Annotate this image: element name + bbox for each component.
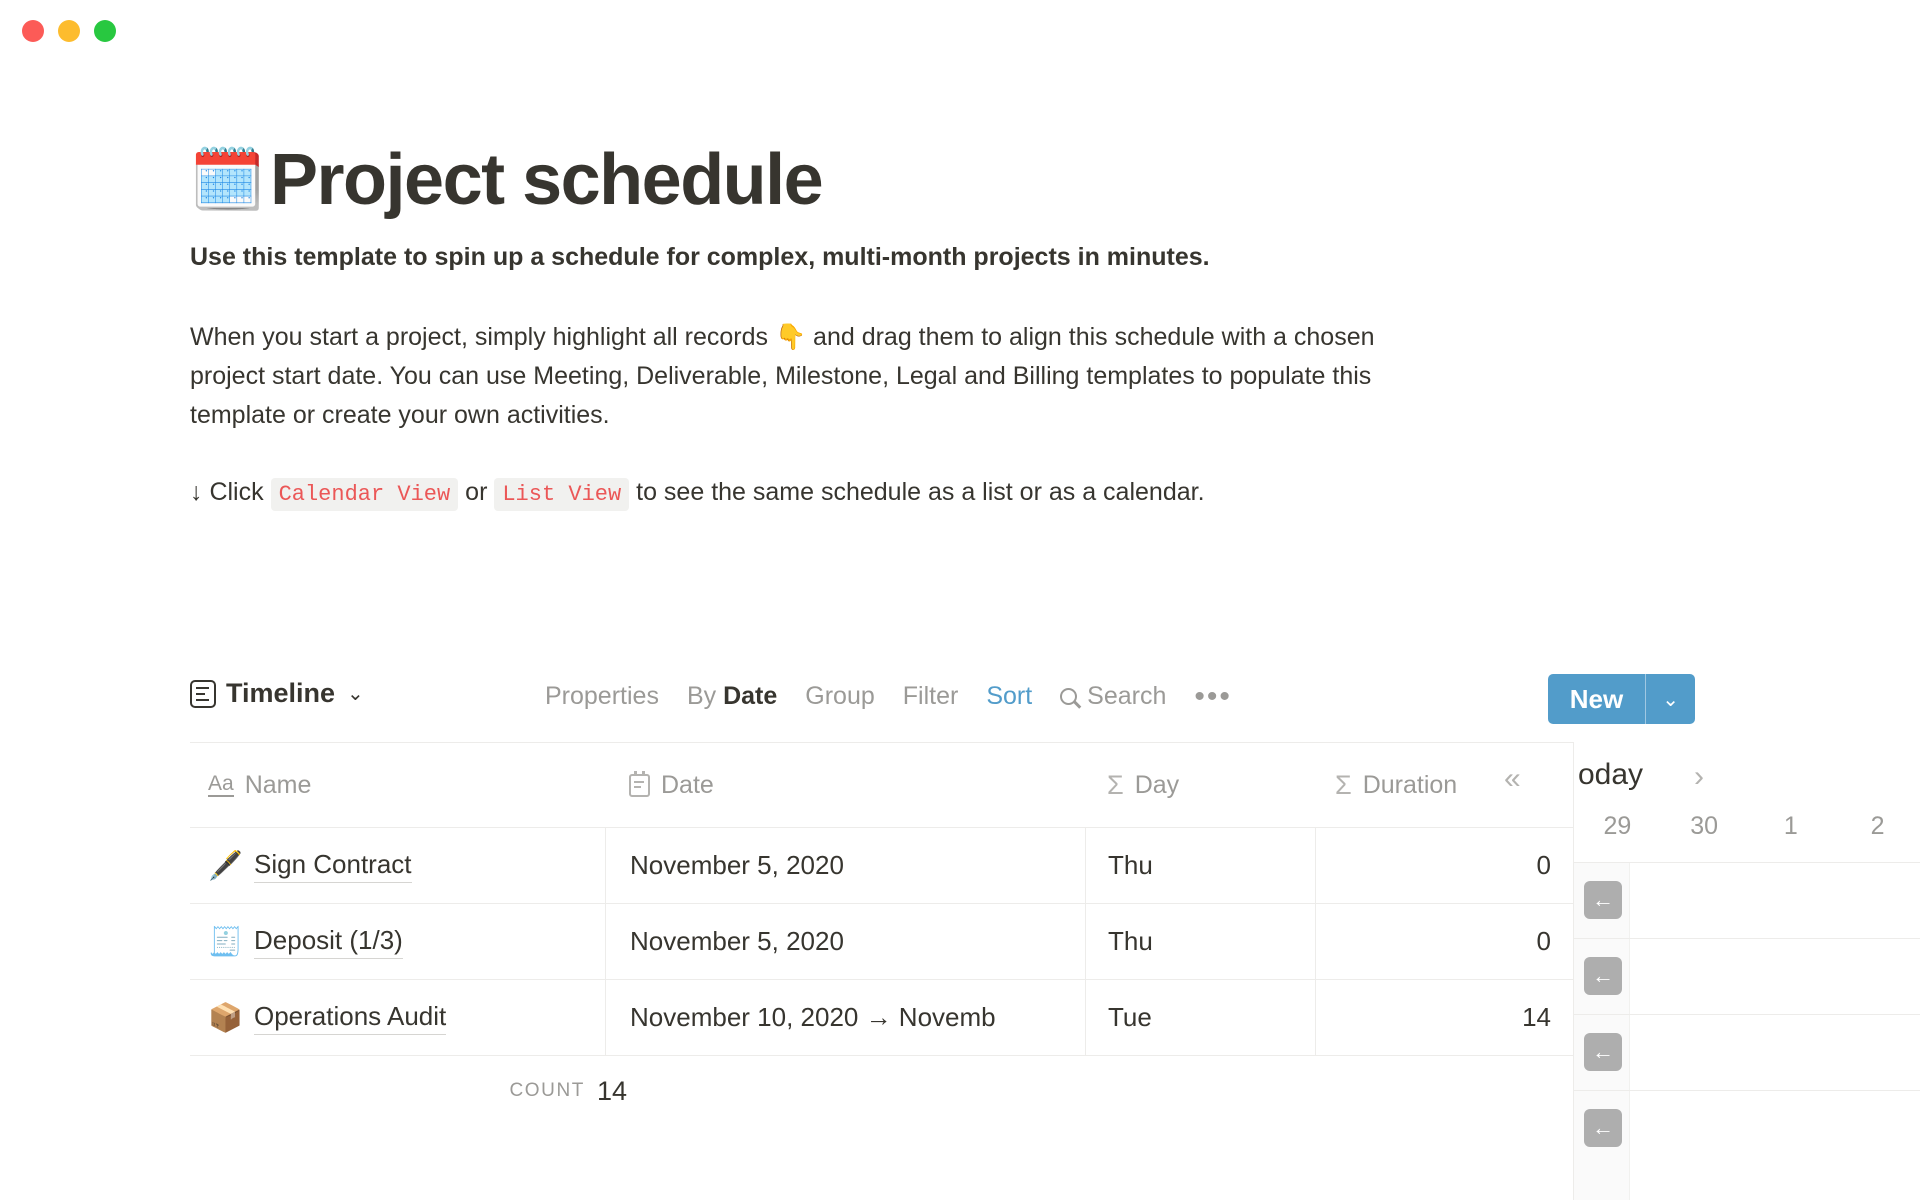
search-label: Search [1087, 682, 1166, 711]
day-value: Thu [1108, 850, 1153, 881]
timeline-row-divider [1574, 1090, 1920, 1091]
timeline-row-divider [1574, 938, 1920, 939]
record-link[interactable]: Sign Contract [254, 849, 412, 883]
day-value: Tue [1108, 1002, 1152, 1033]
sigma-icon: Σ [1107, 772, 1124, 798]
page-paragraph: When you start a project, simply highlig… [190, 318, 1385, 435]
scroll-to-record-button[interactable]: ← [1584, 957, 1622, 995]
column-header-day[interactable]: ΣDay [1085, 743, 1315, 827]
zoom-button[interactable] [94, 20, 116, 42]
record-link[interactable]: Deposit (1/3) [254, 925, 403, 959]
day-value: Thu [1108, 926, 1153, 957]
cell-day[interactable]: Thu [1085, 828, 1315, 903]
timeline-day: 2 [1834, 812, 1920, 862]
count-value: 14 [597, 1076, 627, 1107]
sort-button[interactable]: Sort [986, 682, 1032, 711]
column-header-name[interactable]: AaName [190, 771, 605, 800]
date-value: November 5, 2020 [630, 850, 844, 881]
page-lede: Use this template to spin up a schedule … [190, 240, 1590, 274]
date-value: November 10, 2020 → Novemb [630, 1002, 996, 1033]
database-toolbar: Timeline ⌄ Properties By Date Group Filt… [190, 672, 1695, 730]
timeline-grid: ← ← ← ← [1574, 862, 1920, 1200]
chevron-down-icon: ⌄ [347, 681, 364, 706]
properties-button[interactable]: Properties [545, 682, 659, 711]
search-icon [1060, 688, 1077, 705]
list-view-code[interactable]: List View [494, 478, 629, 511]
close-button[interactable] [22, 20, 44, 42]
cell-date[interactable]: November 5, 2020 [605, 828, 1085, 903]
hint-tail: to see the same schedule as a list or as… [636, 478, 1204, 506]
group-button[interactable]: Group [805, 682, 874, 711]
new-button-group[interactable]: New ⌄ [1548, 674, 1695, 724]
timeline-day-headers: 29 30 1 2 [1574, 812, 1920, 862]
more-options-icon[interactable]: ••• [1194, 687, 1232, 707]
record-link[interactable]: Operations Audit [254, 1001, 446, 1035]
duration-value: 0 [1537, 850, 1551, 881]
date-value: November 5, 2020 [630, 926, 844, 957]
duration-value: 14 [1522, 1002, 1551, 1033]
cell-name[interactable]: 📦 Operations Audit [190, 1001, 605, 1035]
column-label-day: Day [1135, 771, 1179, 800]
traffic-lights [22, 20, 116, 42]
scroll-to-record-button[interactable]: ← [1584, 881, 1622, 919]
timeline-navigation: « oday › [1504, 756, 1920, 804]
timeline-row-divider [1574, 1014, 1920, 1015]
toolbar-actions: Properties By Date Group Filter Sort Sea… [545, 682, 1232, 711]
cell-name[interactable]: 🧾 Deposit (1/3) [190, 925, 605, 959]
timeline-icon [190, 680, 216, 708]
down-arrow-icon: ↓ [190, 478, 203, 506]
current-view-label: Timeline [226, 678, 335, 709]
duration-value: 0 [1537, 926, 1551, 957]
cell-duration[interactable]: 14 [1315, 980, 1573, 1055]
text-aa-icon: Aa [208, 774, 234, 797]
calendar-emoji-icon: 🗓️ [190, 142, 252, 218]
cell-duration[interactable]: 0 [1315, 904, 1573, 979]
calendar-view-code[interactable]: Calendar View [271, 478, 459, 511]
table-row[interactable]: 🧾 Deposit (1/3) November 5, 2020 Thu 0 [190, 904, 1573, 980]
calendar-icon [629, 774, 650, 797]
table-header-row: AaName Date ΣDay ΣDuration [190, 743, 1573, 828]
search-button[interactable]: Search [1060, 682, 1166, 711]
column-label-date: Date [661, 771, 714, 800]
today-button[interactable]: oday [1578, 758, 1643, 792]
previous-period-icon[interactable]: « [1504, 762, 1521, 796]
column-header-date[interactable]: Date [605, 743, 1085, 827]
app-window: 🗓️ Project schedule Use this template to… [0, 0, 1920, 1200]
column-label-duration: Duration [1363, 771, 1458, 800]
timeline-day: 30 [1661, 812, 1748, 862]
minimize-button[interactable] [58, 20, 80, 42]
new-button[interactable]: New [1548, 674, 1645, 724]
timeline-day: 1 [1748, 812, 1835, 862]
window-titlebar [0, 0, 1920, 62]
view-switcher[interactable]: Timeline ⌄ [190, 678, 364, 709]
timeline-panel: « oday › 29 30 1 2 ← ← ← ← [1573, 742, 1920, 1200]
view-hint-line: ↓ Click Calendar View or List View to se… [190, 472, 1590, 515]
next-period-icon[interactable]: › [1694, 760, 1704, 794]
table-row[interactable]: 📦 Operations Audit November 10, 2020 → N… [190, 980, 1573, 1056]
filter-button[interactable]: Filter [903, 682, 959, 711]
package-emoji-icon: 📦 [208, 1001, 240, 1034]
cell-name[interactable]: 🖋️ Sign Contract [190, 849, 605, 883]
by-prefix: By [687, 682, 723, 710]
pen-emoji-icon: 🖋️ [208, 849, 240, 882]
cell-day[interactable]: Thu [1085, 904, 1315, 979]
by-date-value: Date [723, 682, 777, 710]
cell-date[interactable]: November 5, 2020 [605, 904, 1085, 979]
count-label: COUNT [190, 1080, 605, 1102]
table-footer: COUNT 14 [190, 1056, 1573, 1126]
table-row[interactable]: 🖋️ Sign Contract November 5, 2020 Thu 0 [190, 828, 1573, 904]
scroll-to-record-button[interactable]: ← [1584, 1109, 1622, 1147]
page-header: 🗓️ Project schedule [190, 140, 822, 220]
page-title: Project schedule [270, 140, 822, 220]
or-word: or [465, 478, 487, 506]
click-word: Click [209, 478, 263, 506]
cell-duration[interactable]: 0 [1315, 828, 1573, 903]
receipt-emoji-icon: 🧾 [208, 925, 240, 958]
records-table: AaName Date ΣDay ΣDuration 🖋️ Sign Contr… [190, 743, 1573, 1126]
new-button-chevron-down-icon[interactable]: ⌄ [1646, 674, 1695, 724]
cell-date[interactable]: November 10, 2020 → Novemb [605, 980, 1085, 1055]
by-date-button[interactable]: By Date [687, 682, 777, 711]
timeline-day: 29 [1574, 812, 1661, 862]
cell-day[interactable]: Tue [1085, 980, 1315, 1055]
sigma-icon: Σ [1335, 772, 1352, 798]
scroll-to-record-button[interactable]: ← [1584, 1033, 1622, 1071]
column-label-name: Name [245, 771, 312, 800]
